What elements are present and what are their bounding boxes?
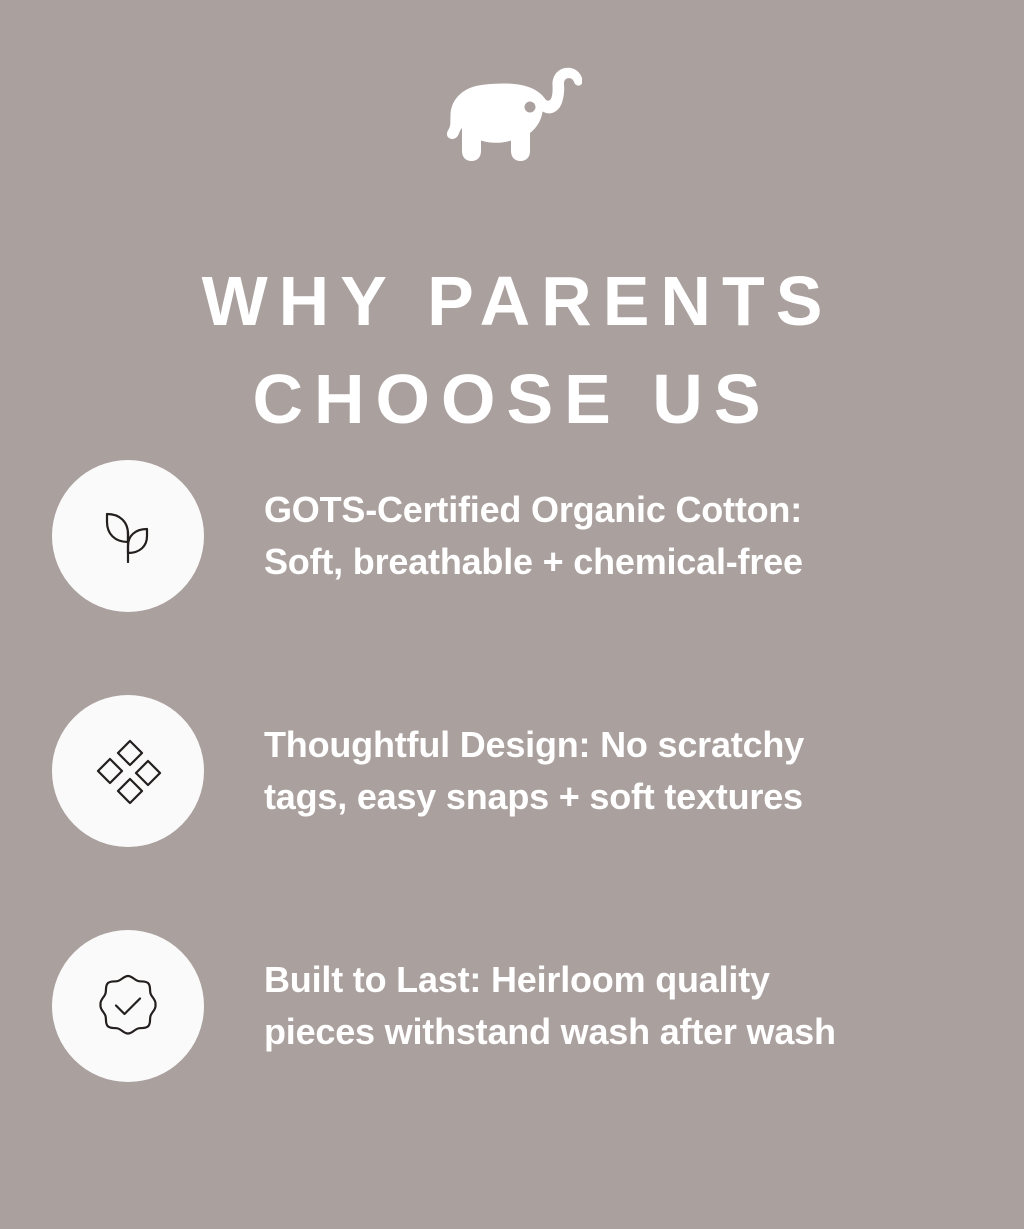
feature-icon-badge: [52, 460, 204, 612]
sprout-leaf-icon: [92, 500, 164, 572]
page-title: WHY PARENTS CHOOSE US: [0, 252, 1024, 448]
list-item: GOTS-Certified Organic Cotton: Soft, bre…: [0, 460, 1024, 612]
badge-check-icon: [92, 970, 164, 1042]
feature-icon-badge: [52, 930, 204, 1082]
list-item: Built to Last: Heirloom quality pieces w…: [0, 930, 1024, 1082]
feature-text: GOTS-Certified Organic Cotton: Soft, bre…: [264, 484, 954, 588]
elephant-logo-icon: [442, 63, 582, 167]
brand-logo: [0, 60, 1024, 170]
four-diamonds-icon: [92, 735, 164, 807]
feature-text: Built to Last: Heirloom quality pieces w…: [264, 954, 954, 1058]
feature-text: Thoughtful Design: No scratchy tags, eas…: [264, 719, 954, 823]
feature-icon-badge: [52, 695, 204, 847]
feature-list: GOTS-Certified Organic Cotton: Soft, bre…: [0, 460, 1024, 1082]
why-parents-choose-us-panel: WHY PARENTS CHOOSE US GOTS-Certified Org…: [0, 0, 1024, 1229]
list-item: Thoughtful Design: No scratchy tags, eas…: [0, 695, 1024, 847]
